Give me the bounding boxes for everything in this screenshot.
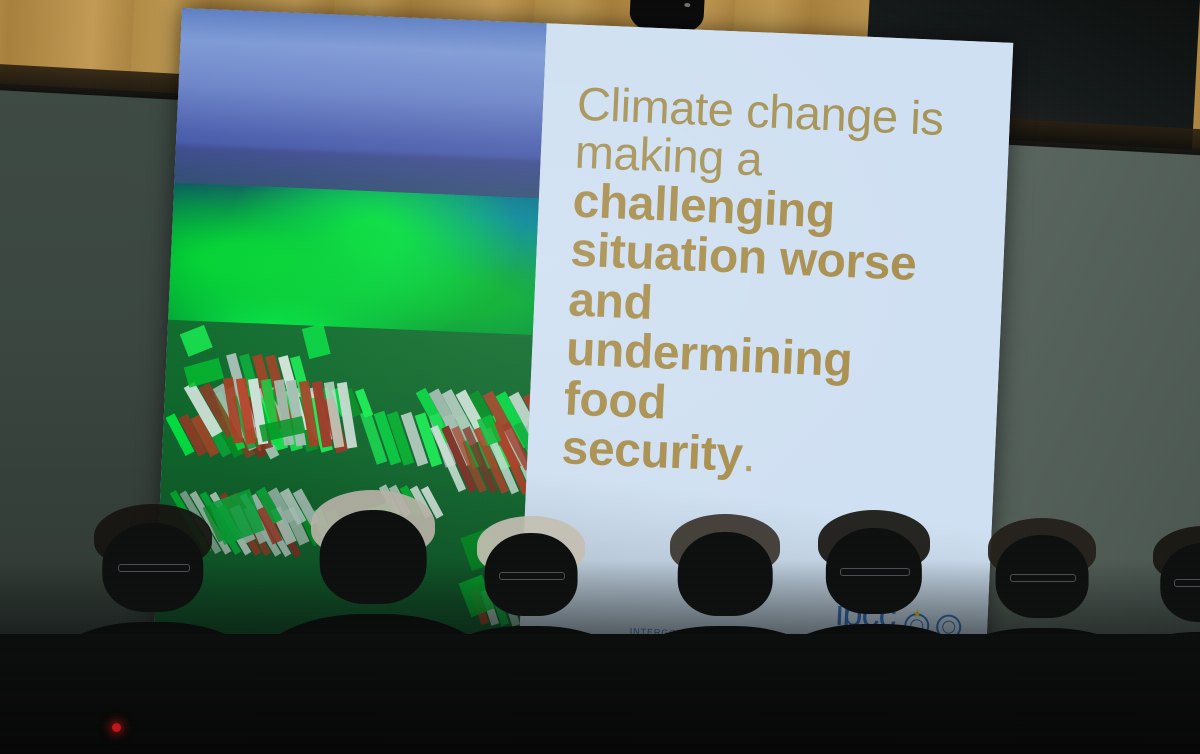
panelist-glasses-icon [1010,574,1077,582]
headline-period: . [741,429,756,482]
field-patch [302,324,331,360]
field-patch [180,324,213,356]
speaker-glint [684,3,690,7]
microphone-indicator-light [112,723,121,732]
field-patch [184,357,224,387]
panelist-glasses-icon [840,568,909,576]
headline-line-5: undermining food [563,325,966,440]
slide-headline: Climate change is making a challenging s… [561,80,977,490]
panelist-glasses-icon [118,564,191,572]
panelist-head [678,532,773,616]
conference-room-scene: 6 Climate change is making a challenging… [0,0,1200,754]
panelist-head [320,510,427,605]
panel-table [0,634,1200,754]
panelist-glasses-icon [1174,579,1200,587]
headline-line-4: situation worse and [567,226,970,341]
panelist-glasses-icon [499,572,566,580]
headline-line-6-text: security [561,421,744,482]
